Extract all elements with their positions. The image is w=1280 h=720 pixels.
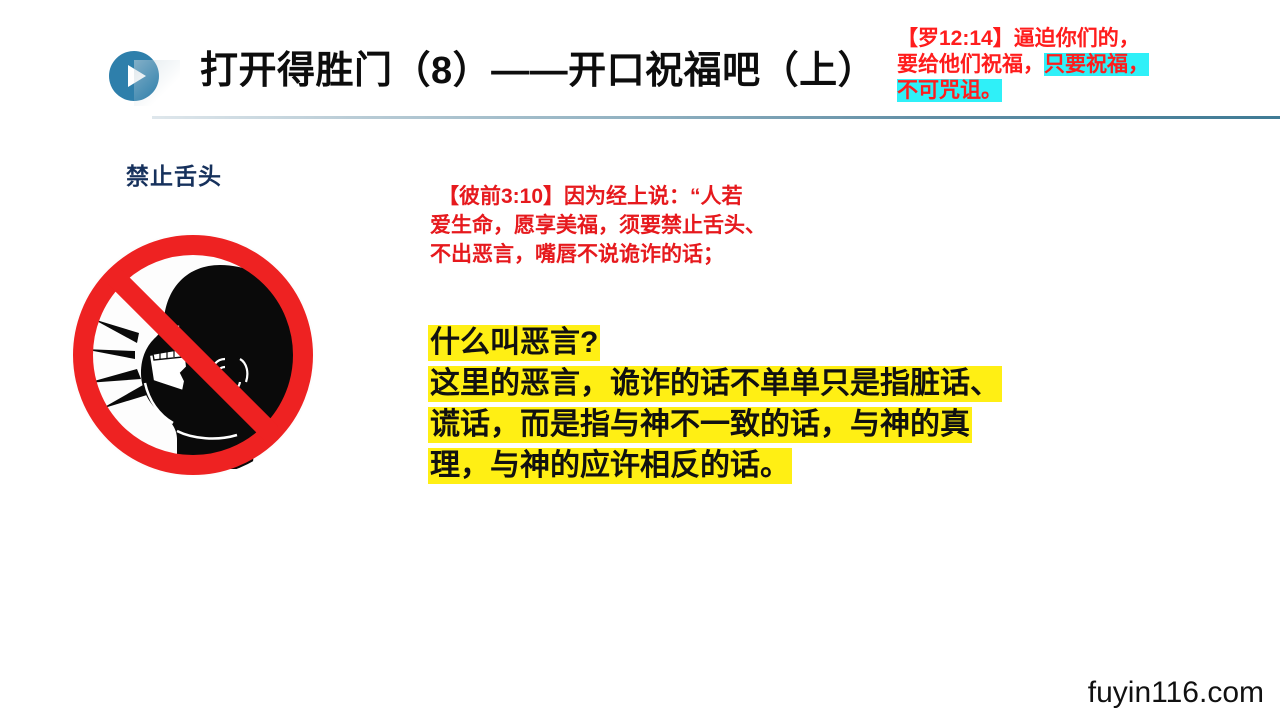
play-circle-icon[interactable] [109,51,159,101]
header-divider [152,116,1280,119]
teaching-line-4-text: 理，与神的应许相反的话。 [428,448,792,484]
verse-top-line-2-plain: 要给他们祝福， [897,53,1044,76]
teaching-line-1-text: 什么叫恶言? [428,325,600,361]
verse-top-reference: 【罗12:14】 [897,27,1014,50]
no-shouting-sign-icon [57,233,329,478]
teaching-line-1: 什么叫恶言? [428,322,1002,363]
verse-top-line-2-highlight: 只要祝福， [1044,53,1149,76]
section-heading: 禁止舌头 [126,157,222,191]
teaching-line-2: 这里的恶言，诡诈的话不单单只是指脏话、 [428,363,1002,404]
verse-top-line-3: 不可咒诅。 [897,78,1217,104]
verse-top-line-3-highlight: 不可咒诅。 [897,79,1002,102]
verse-mid-line-2: 爱生命，愿享美福，须要禁止舌头、 [430,211,860,240]
teaching-line-3: 谎话，而是指与神不一致的话，与神的真 [428,404,1002,445]
verse-1peter-3-10: 【彼前3:10】因为经上说：“人若 爱生命，愿享美福，须要禁止舌头、 不出恶言，… [430,182,860,269]
slide-canvas: 打开得胜门（8）——开口祝福吧（上） 【罗12:14】逼迫你们的， 要给他们祝福… [0,0,1280,720]
page-title: 打开得胜门（8）——开口祝福吧（上） [200,50,876,94]
teaching-block: 什么叫恶言? 这里的恶言，诡诈的话不单单只是指脏话、 谎话，而是指与神不一致的话… [428,322,1002,486]
teaching-line-2-text: 这里的恶言，诡诈的话不单单只是指脏话、 [428,366,1002,402]
verse-top-line-1: 【罗12:14】逼迫你们的， [897,26,1217,52]
verse-mid-line-3: 不出恶言，嘴唇不说诡诈的话； [430,240,860,269]
site-watermark: fuyin116.com [1088,676,1264,710]
verse-top-line-2: 要给他们祝福，只要祝福， [897,52,1217,78]
bracket-frame-icon [90,32,178,120]
verse-romans-12-14: 【罗12:14】逼迫你们的， 要给他们祝福，只要祝福， 不可咒诅。 [897,26,1217,104]
teaching-line-3-text: 谎话，而是指与神不一致的话，与神的真 [428,407,972,443]
verse-mid-line-1: 【彼前3:10】因为经上说：“人若 [430,182,860,211]
teaching-line-4: 理，与神的应许相反的话。 [428,445,1002,486]
verse-top-line-1-text: 逼迫你们的， [1014,27,1140,50]
